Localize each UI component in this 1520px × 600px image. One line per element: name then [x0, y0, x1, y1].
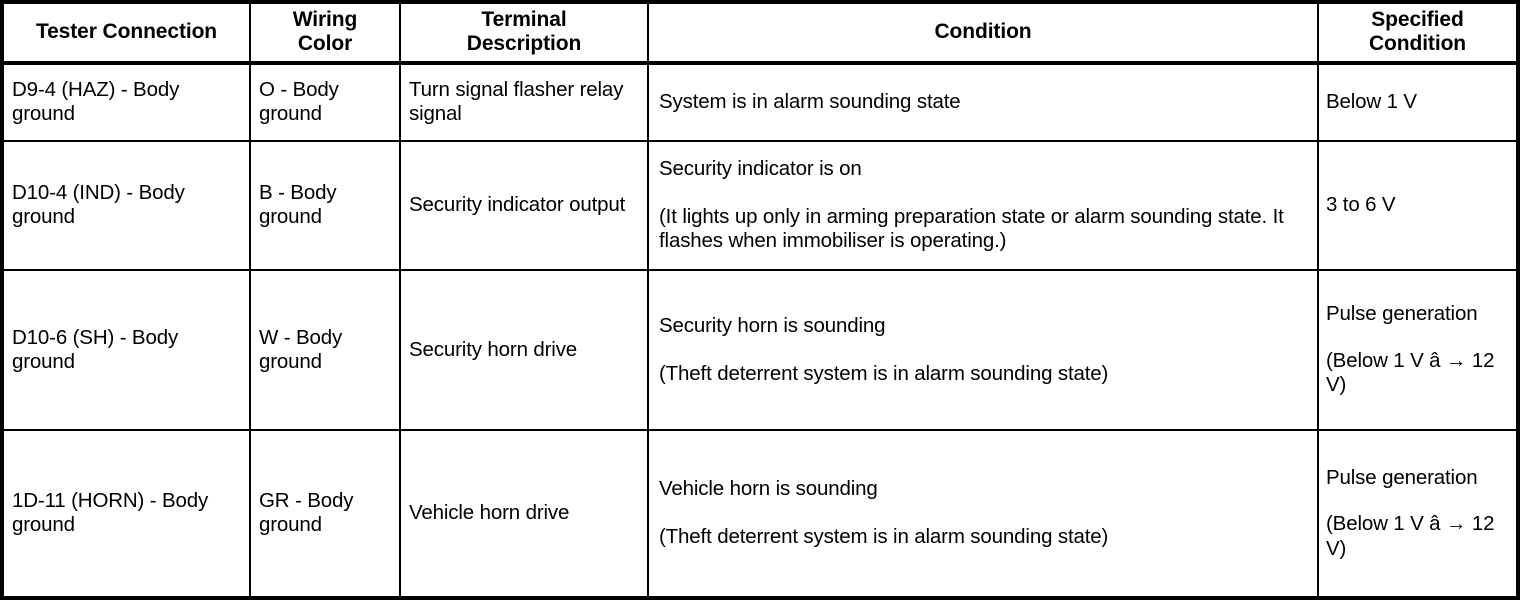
- specified-condition-main-text: Pulse generation: [1326, 466, 1508, 491]
- table-row: D10-4 (IND) - Body ground B - Body groun…: [4, 141, 1516, 271]
- spec-table-container: Tester Connection Wiring Color Terminal …: [0, 0, 1520, 600]
- condition-main-text: Security horn is sounding: [659, 314, 1309, 339]
- tester-connection-value: 1D-11 (HORN) - Body ground: [12, 489, 208, 537]
- cell-wiring-color: W - Body ground: [250, 270, 400, 430]
- header-text-terminal-description-line2: Description: [467, 32, 581, 55]
- column-header-terminal-description: Terminal Description: [400, 4, 648, 63]
- cell-tester-connection: D10-4 (IND) - Body ground: [4, 141, 250, 271]
- specified-condition-main-text: Pulse generation: [1326, 302, 1508, 327]
- column-header-condition: Condition: [648, 4, 1318, 63]
- cell-specified-condition: Pulse generation (Below 1 V â → 12 V): [1318, 430, 1516, 596]
- cell-terminal-description: Security indicator output: [400, 141, 648, 271]
- cell-condition: Security horn is sounding (Theft deterre…: [648, 270, 1318, 430]
- cell-terminal-description: Security horn drive: [400, 270, 648, 430]
- cell-wiring-color: GR - Body ground: [250, 430, 400, 596]
- cell-wiring-color: O - Body ground: [250, 63, 400, 141]
- header-text-terminal-description-line1: Terminal: [481, 8, 566, 31]
- terminal-description-value: Vehicle horn drive: [409, 501, 569, 524]
- specified-condition-note-text: (Below 1 V â → 12 V): [1326, 349, 1508, 398]
- cell-tester-connection: D9-4 (HAZ) - Body ground: [4, 63, 250, 141]
- cell-condition: Security indicator is on (It lights up o…: [648, 141, 1318, 271]
- cell-specified-condition: Below 1 V: [1318, 63, 1516, 141]
- tester-connection-value: D9-4 (HAZ) - Body ground: [12, 78, 179, 126]
- column-header-tester-connection: Tester Connection: [4, 4, 250, 63]
- terminal-description-value: Security horn drive: [409, 338, 577, 361]
- terminal-inspection-table: Tester Connection Wiring Color Terminal …: [4, 4, 1516, 596]
- header-text-specified-condition-line2: Condition: [1369, 32, 1466, 55]
- table-row: D9-4 (HAZ) - Body ground O - Body ground…: [4, 63, 1516, 141]
- cell-tester-connection: 1D-11 (HORN) - Body ground: [4, 430, 250, 596]
- cell-wiring-color: B - Body ground: [250, 141, 400, 271]
- terminal-description-value: Turn signal flasher relay signal: [409, 78, 623, 126]
- column-header-wiring-color: Wiring Color: [250, 4, 400, 63]
- terminal-description-value: Security indicator output: [409, 193, 625, 216]
- header-text-condition: Condition: [934, 20, 1031, 43]
- cell-specified-condition: 3 to 6 V: [1318, 141, 1516, 271]
- cell-specified-condition: Pulse generation (Below 1 V â → 12 V): [1318, 270, 1516, 430]
- header-text-wiring-color-line1: Wiring: [293, 8, 358, 31]
- table-body: D9-4 (HAZ) - Body ground O - Body ground…: [4, 63, 1516, 596]
- tester-connection-value: D10-6 (SH) - Body ground: [12, 326, 178, 374]
- table-row: D10-6 (SH) - Body ground W - Body ground…: [4, 270, 1516, 430]
- cell-condition: System is in alarm sounding state: [648, 63, 1318, 141]
- condition-main-text: Security indicator is on: [659, 157, 1309, 182]
- table-row: 1D-11 (HORN) - Body ground GR - Body gro…: [4, 430, 1516, 596]
- column-header-specified-condition: Specified Condition: [1318, 4, 1516, 63]
- specified-condition-note-text: (Below 1 V â → 12 V): [1326, 512, 1508, 561]
- condition-note-text: (Theft deterrent system is in alarm soun…: [659, 362, 1309, 387]
- condition-main-text: System is in alarm sounding state: [659, 90, 1309, 115]
- table-header: Tester Connection Wiring Color Terminal …: [4, 4, 1516, 63]
- cell-condition: Vehicle horn is sounding (Theft deterren…: [648, 430, 1318, 596]
- condition-main-text: Vehicle horn is sounding: [659, 477, 1309, 502]
- header-text-specified-condition-line1: Specified: [1371, 8, 1463, 31]
- wiring-color-value: GR - Body ground: [259, 489, 353, 537]
- header-row: Tester Connection Wiring Color Terminal …: [4, 4, 1516, 63]
- condition-note-text: (It lights up only in arming preparation…: [659, 205, 1309, 254]
- condition-note-text: (Theft deterrent system is in alarm soun…: [659, 525, 1309, 550]
- header-text-tester-connection: Tester Connection: [36, 20, 217, 43]
- tester-connection-value: D10-4 (IND) - Body ground: [12, 181, 185, 229]
- header-text-wiring-color-line2: Color: [298, 32, 352, 55]
- specified-condition-main-text: Below 1 V: [1326, 90, 1508, 115]
- wiring-color-value: O - Body ground: [259, 78, 339, 126]
- cell-terminal-description: Turn signal flasher relay signal: [400, 63, 648, 141]
- wiring-color-value: B - Body ground: [259, 181, 336, 229]
- specified-condition-main-text: 3 to 6 V: [1326, 193, 1508, 218]
- wiring-color-value: W - Body ground: [259, 326, 342, 374]
- cell-terminal-description: Vehicle horn drive: [400, 430, 648, 596]
- cell-tester-connection: D10-6 (SH) - Body ground: [4, 270, 250, 430]
